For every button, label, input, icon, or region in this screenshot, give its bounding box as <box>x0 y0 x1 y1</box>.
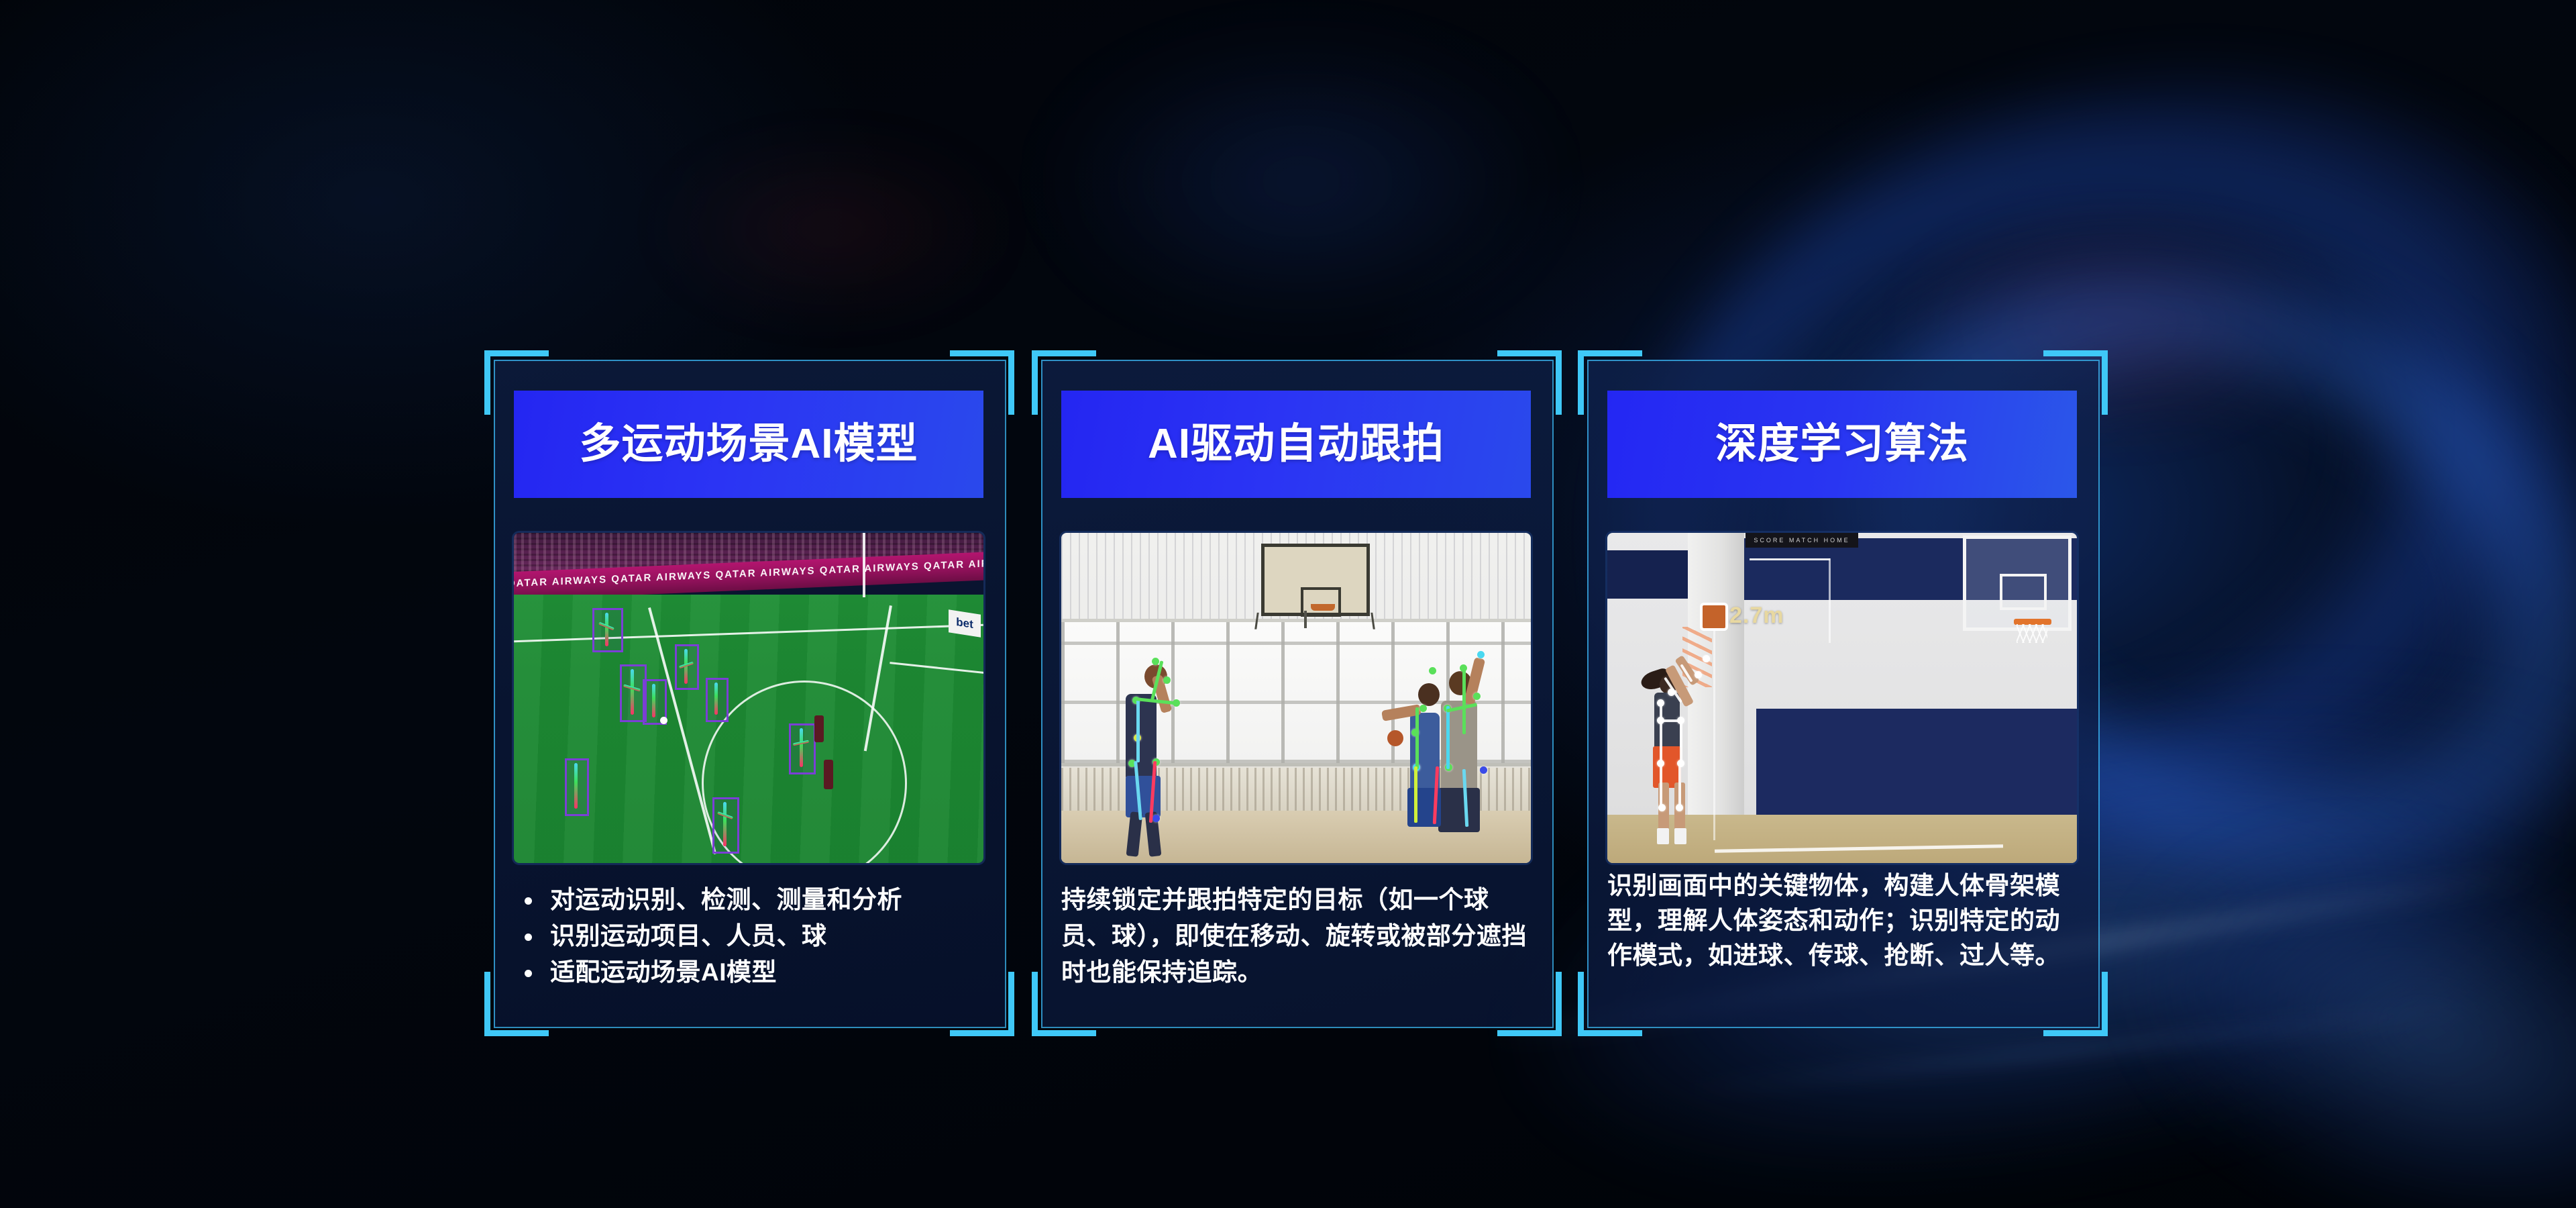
detection-box <box>592 608 623 652</box>
player-head <box>1418 683 1440 706</box>
goal-post <box>863 533 865 597</box>
feature-card-multi-sport-ai-model[interactable]: 多运动场景AI模型 QATAR AIRWAYS QATAR AIRWAYS QA… <box>484 350 1014 1036</box>
player-sock <box>1674 828 1686 844</box>
court-wall-padding <box>1756 709 2077 815</box>
tracking-guide-vertical <box>1829 558 1831 643</box>
skeleton-link <box>1660 764 1662 808</box>
keypoint <box>1703 655 1710 662</box>
card-media-thumbnail-football[interactable]: QATAR AIRWAYS QATAR AIRWAYS QATAR AIRWAY… <box>514 533 983 863</box>
detection-box <box>789 723 816 774</box>
distance-label: 2.7m <box>1729 603 1784 629</box>
card-header-bar: 多运动场景AI模型 <box>514 391 983 498</box>
backboard <box>1963 536 2072 631</box>
backboard-inner-square <box>2000 574 2047 610</box>
keypoint <box>1163 676 1171 684</box>
card-body: 对运动识别、检测、测量和分析 识别运动项目、人员、球 适配运动场景AI模型 <box>514 882 983 991</box>
skeleton-link <box>1446 706 1450 769</box>
ball <box>660 717 667 724</box>
card-title: 深度学习算法 <box>1715 423 1969 465</box>
card-body: 识别画面中的关键物体，构建人体骨架模型，理解人体姿态和动作；识别特定的动作模式，… <box>1607 868 2077 973</box>
skeleton-link <box>1136 698 1140 762</box>
card-media-thumbnail-gym[interactable] <box>1061 533 1531 863</box>
card-header-bar: AI驱动自动跟拍 <box>1061 391 1531 498</box>
hoop <box>1311 604 1335 611</box>
feature-bullet-list: 对运动识别、检测、测量和分析 识别运动项目、人员、球 适配运动场景AI模型 <box>514 882 983 991</box>
player-undetected <box>824 760 833 789</box>
list-item: 对运动识别、检测、测量和分析 <box>514 882 983 918</box>
ball <box>1387 730 1403 746</box>
detection-box <box>565 758 589 816</box>
keypoint <box>1429 667 1436 674</box>
feature-card-deep-learning-algorithm[interactable]: 深度学习算法 SCORE MATCH HOME <box>1578 350 2108 1036</box>
card-media-thumbnail-court[interactable]: SCORE MATCH HOME 2.7m <box>1607 533 2077 863</box>
skeleton-link <box>1414 766 1417 823</box>
tracking-guide-horizontal <box>1750 558 1830 560</box>
keypoint <box>1152 658 1159 665</box>
player-sock <box>1657 828 1669 844</box>
card-description: 识别画面中的关键物体，构建人体骨架模型，理解人体姿态和动作；识别特定的动作模式，… <box>1607 868 2077 973</box>
skeleton-link <box>1660 719 1681 722</box>
keypoint <box>1480 766 1487 774</box>
player-undetected <box>814 715 824 742</box>
detection-box <box>706 678 729 722</box>
detection-box <box>712 797 739 854</box>
player-shorts <box>1438 788 1480 832</box>
scoreboard-text: SCORE MATCH HOME <box>1754 537 1849 544</box>
list-item: 识别运动项目、人员、球 <box>514 918 983 954</box>
scoreboard: SCORE MATCH HOME <box>1746 533 1858 548</box>
card-body: 持续锁定并跟拍特定的目标（如一个球员、球），即使在移动、旋转或被部分遮挡时也能保… <box>1061 882 1531 991</box>
hoop-net <box>2017 624 2047 643</box>
ball-tracking-box <box>1700 603 1728 631</box>
skeleton-link <box>1462 667 1466 734</box>
tracking-guide-vertical-2 <box>1713 612 1715 840</box>
keypoint <box>1473 693 1481 700</box>
card-header-bar: 深度学习算法 <box>1607 391 2077 498</box>
detection-box <box>675 644 699 690</box>
card-title: AI驱动自动跟拍 <box>1148 423 1444 465</box>
list-item: 适配运动场景AI模型 <box>514 954 983 991</box>
keypoint <box>1152 815 1160 822</box>
hoop-truss <box>1254 613 1375 630</box>
keypoint <box>1419 705 1427 712</box>
slide-stage: 多运动场景AI模型 QATAR AIRWAYS QATAR AIRWAYS QA… <box>0 0 2576 1208</box>
skeleton-link <box>1678 764 1681 808</box>
player-shorts <box>1653 746 1681 788</box>
feature-card-ai-auto-tracking[interactable]: AI驱动自动跟拍 <box>1032 350 1562 1036</box>
player-torso <box>1126 694 1157 781</box>
keypoint <box>1477 651 1485 658</box>
keypoint <box>1695 671 1702 678</box>
card-description: 持续锁定并跟拍特定的目标（如一个球员、球），即使在移动、旋转或被部分遮挡时也能保… <box>1061 882 1531 991</box>
skeleton-link <box>1660 702 1662 764</box>
player-shorts <box>1126 776 1161 817</box>
card-title: 多运动场景AI模型 <box>579 423 918 465</box>
skeleton-link <box>1680 719 1682 764</box>
skeleton-link <box>1415 707 1419 769</box>
